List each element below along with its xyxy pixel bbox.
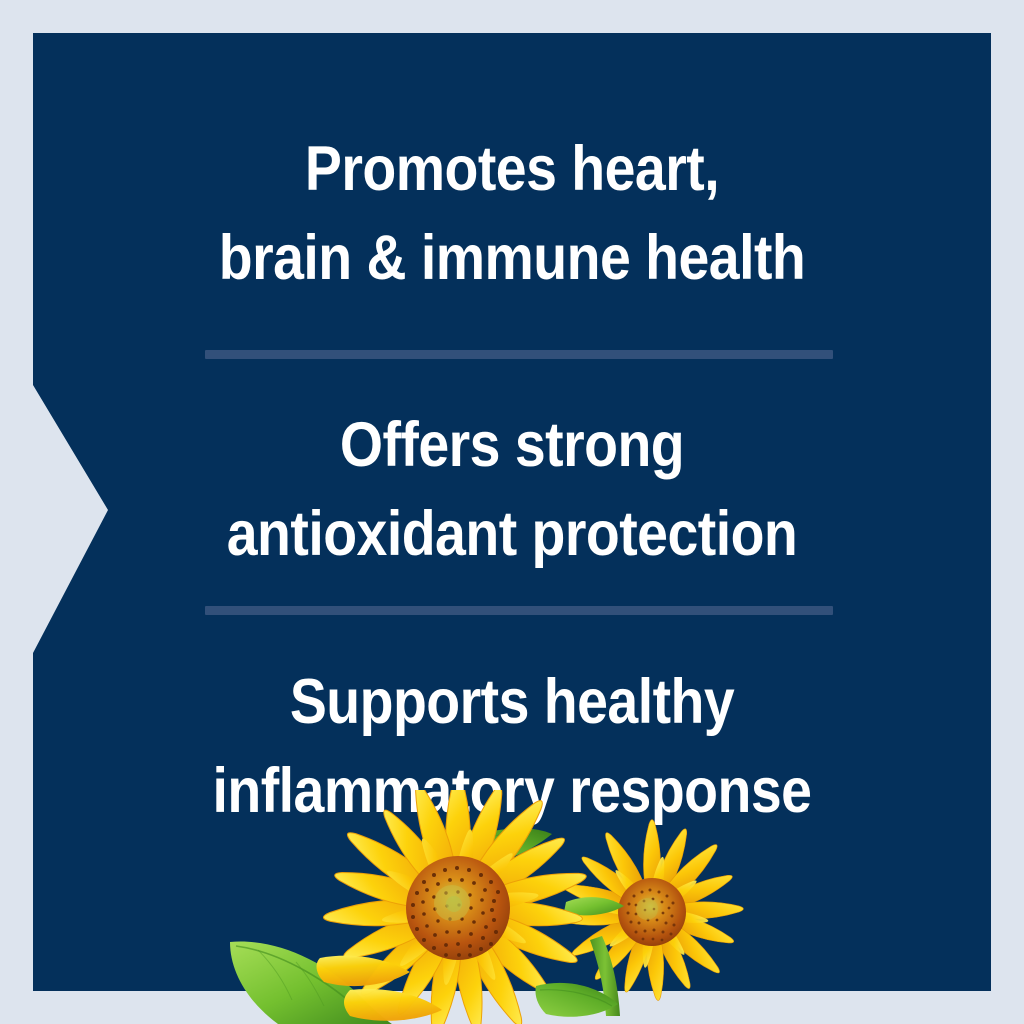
divider-bottom	[205, 606, 833, 615]
benefit-item-inflammatory-response: Supports healthy inflammatory response	[90, 658, 933, 837]
navy-panel: Promotes heart, brain & immune health Of…	[33, 33, 991, 991]
benefits-card: Promotes heart, brain & immune health Of…	[0, 0, 1024, 1024]
benefits-list: Promotes heart, brain & immune health Of…	[33, 33, 991, 991]
benefit-item-antioxidant: Offers strong antioxidant protection	[90, 401, 933, 580]
divider-top	[205, 350, 833, 359]
benefit-item-heart-brain-immune: Promotes heart, brain & immune health	[90, 125, 933, 304]
